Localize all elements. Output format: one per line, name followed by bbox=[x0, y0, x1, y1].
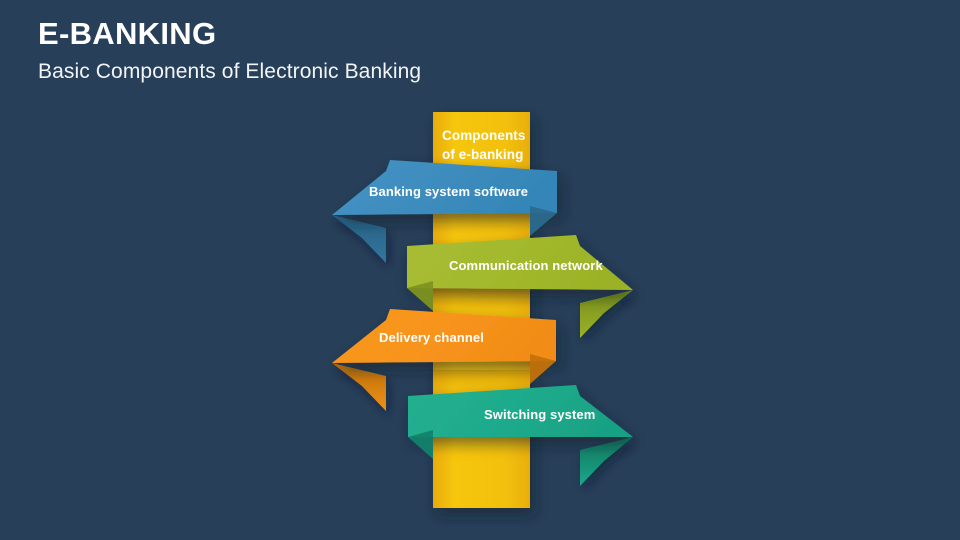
ribbon-fold-orange bbox=[332, 363, 386, 411]
ribbon-fold-green bbox=[580, 290, 633, 338]
ebanking-components-diagram: Components of e-banking Banking system s… bbox=[0, 0, 960, 540]
slide-canvas: E-BANKING Basic Components of Electronic… bbox=[0, 0, 960, 540]
ribbon-fold-blue bbox=[332, 215, 386, 263]
ribbon-fold-teal bbox=[580, 437, 633, 486]
